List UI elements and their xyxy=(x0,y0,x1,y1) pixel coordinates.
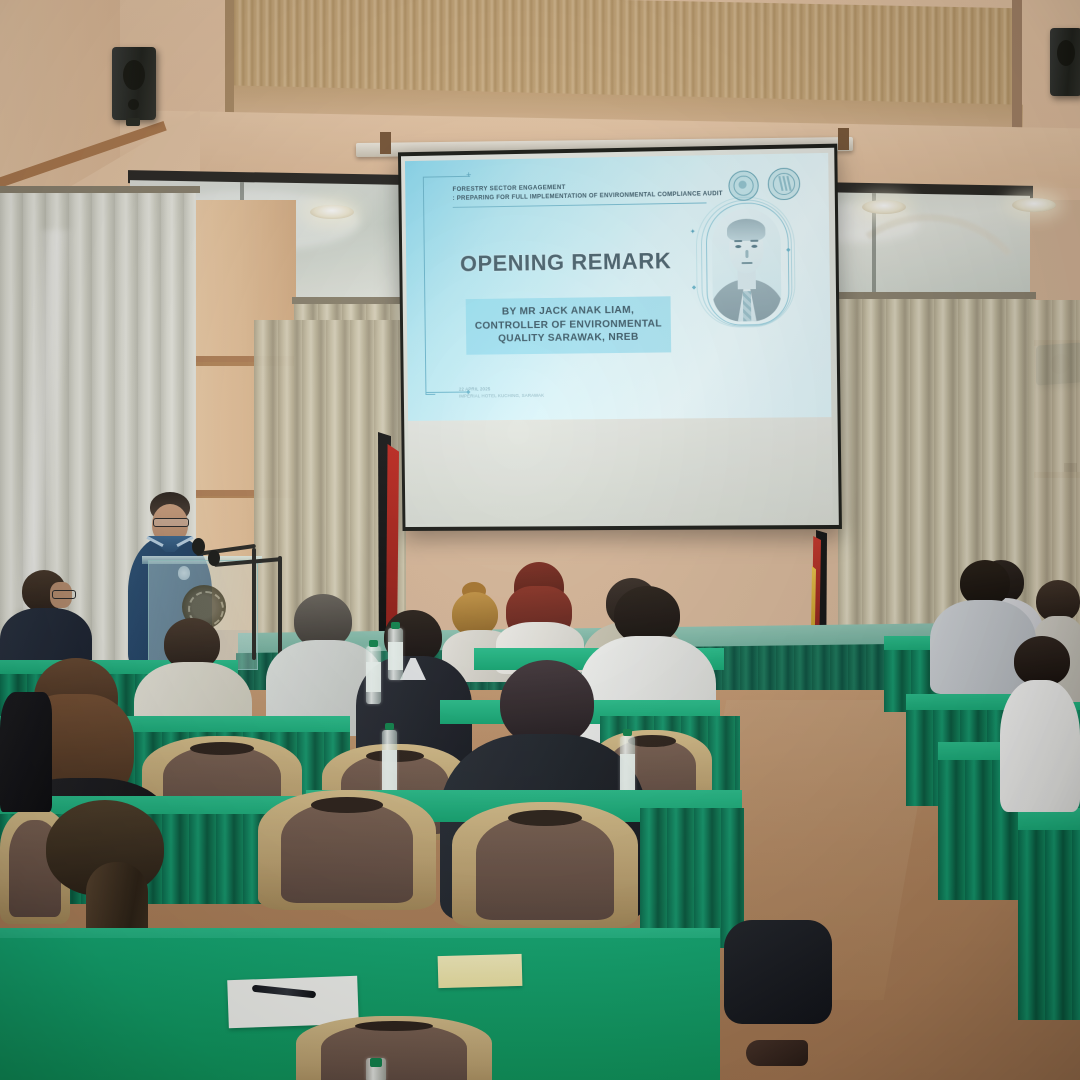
portrait-illustration: ✦ xyxy=(703,200,789,330)
ceiling-panel-right-edge xyxy=(1012,0,1022,140)
portrait-accent-dot-left xyxy=(692,285,696,289)
curtain-rail-center-right xyxy=(836,292,1036,299)
screen-surface: + FORESTRY SECTOR ENGAGEMENT : PREPARING… xyxy=(401,148,839,527)
audience-person-far-left-edge xyxy=(0,692,52,812)
glasses-icon xyxy=(52,590,76,599)
curtain-rail-left xyxy=(0,186,200,193)
presentation-slide: + FORESTRY SECTOR ENGAGEMENT : PREPARING… xyxy=(405,153,831,421)
wall-speaker-upper-right xyxy=(1050,28,1080,96)
ceiling-downlight xyxy=(310,205,354,219)
slide-subtitle-box: BY MR JACK ANAK LIAM, CONTROLLER OF ENVI… xyxy=(466,296,672,354)
screen-mount-left xyxy=(380,132,391,154)
microphone-stand-pole-1 xyxy=(252,548,256,660)
ceiling-panel-left-edge xyxy=(225,0,234,125)
forestry-department-logo xyxy=(768,168,801,201)
microphone-head-2 xyxy=(208,550,220,566)
table-skirt-row3-center xyxy=(640,808,744,948)
portrait-sparkle-icon: ✦ xyxy=(690,228,696,237)
water-bottle xyxy=(388,628,403,680)
shoe-on-floor xyxy=(746,1040,808,1066)
slide-footer-line2: IMPERIAL HOTEL KUCHING, SARAWAK xyxy=(459,393,544,399)
projection-screen: + FORESTRY SECTOR ENGAGEMENT : PREPARING… xyxy=(398,144,842,531)
screen-mount-right xyxy=(838,128,849,150)
glasses-icon xyxy=(153,518,189,527)
microphone-head-1 xyxy=(192,538,205,555)
conference-hall-photo: + FORESTRY SECTOR ENGAGEMENT : PREPARING… xyxy=(0,0,1080,1080)
ceiling-downlight xyxy=(1012,198,1056,212)
wall-speaker-upper-left xyxy=(112,47,156,120)
flag-black-red-yellow-right xyxy=(812,530,827,638)
water-bottle xyxy=(366,646,381,704)
ceiling-downlight xyxy=(862,200,906,214)
slide-header-rule xyxy=(453,202,707,207)
head xyxy=(1014,636,1070,686)
slide-header: FORESTRY SECTOR ENGAGEMENT : PREPARING F… xyxy=(452,181,721,202)
slide-title: OPENING REMARK xyxy=(441,248,690,278)
slide-bracket-decoration xyxy=(423,176,435,394)
slide-bracket-top-line xyxy=(423,176,470,178)
banquet-chair xyxy=(452,802,638,928)
audience-person-right-white-shirt xyxy=(1000,636,1080,806)
speaker-bracket xyxy=(126,118,140,126)
table-skirt-nearest-right xyxy=(1018,830,1080,1020)
slide-footer: 22 APRIL 2025 IMPERIAL HOTEL KUCHING, SA… xyxy=(459,386,544,399)
slide-footer-line1: 22 APRIL 2025 xyxy=(459,386,544,392)
yellow-note-card xyxy=(438,954,523,988)
banquet-chair xyxy=(258,790,436,910)
slide-subtitle-line3: QUALITY SARAWAK, NREB xyxy=(470,330,667,346)
backpack-on-floor xyxy=(724,920,832,1024)
screen-blank-lower-area xyxy=(408,417,833,524)
plus-tick-icon: + xyxy=(466,171,471,180)
water-bottle xyxy=(366,1058,386,1080)
banquet-chair-foreground-center xyxy=(296,1016,492,1080)
curtain-rail-center-left xyxy=(292,297,408,304)
torso xyxy=(1000,680,1080,812)
